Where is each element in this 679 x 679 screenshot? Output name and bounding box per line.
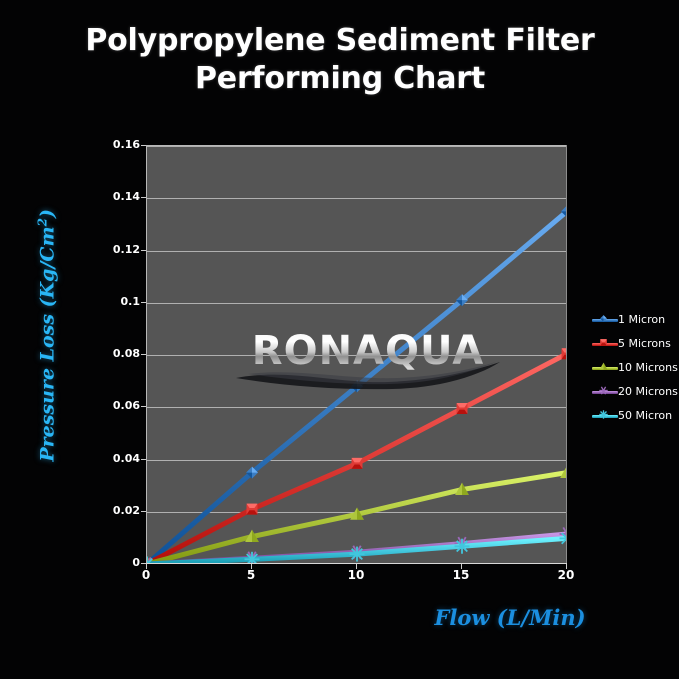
x-axis-tick-label: 20 (541, 568, 591, 582)
legend-marker-icon (592, 386, 618, 398)
y-axis-tick-label: 0.04 (94, 453, 140, 464)
legend-item[interactable]: 5 Microns (592, 332, 678, 356)
y-axis-tick-mark (141, 406, 146, 407)
x-axis-tick-mark (566, 564, 567, 569)
x-axis-tick-mark (461, 564, 462, 569)
legend-item-label: 10 Microns (618, 362, 678, 374)
y-axis-title-superscript: 2 (35, 218, 49, 226)
chart-container: Polypropylene Sediment Filter Performing… (0, 0, 679, 679)
y-axis-title: Pressure Loss (Kg/Cm2) (35, 242, 58, 462)
legend-item-label: 50 Micron (618, 410, 672, 422)
legend-item-label: 5 Microns (618, 338, 671, 350)
legend-marker-icon (592, 362, 618, 374)
legend-item-label: 20 Microns (618, 386, 678, 398)
y-axis-tick-label: 0.06 (94, 400, 140, 411)
y-axis-title-main: Pressure Loss (Kg/Cm (37, 226, 59, 461)
y-axis-tick-mark (141, 197, 146, 198)
y-axis-tick-label: 0.02 (94, 505, 140, 516)
plot-area (146, 145, 566, 563)
x-axis-tick-mark (146, 564, 147, 569)
x-axis-tick-label: 0 (121, 568, 171, 582)
y-axis-tick-label: 0.14 (94, 191, 140, 202)
y-axis-tick-label: 0.08 (94, 348, 140, 359)
x-axis-tick-mark (356, 564, 357, 569)
legend-item-label: 1 Micron (618, 314, 665, 326)
y-axis-tick-mark (141, 354, 146, 355)
series-canvas (147, 146, 567, 564)
legend-item[interactable]: 10 Microns (592, 356, 678, 380)
x-axis-tick-labels: 05101520 (0, 568, 679, 588)
y-axis-tick-mark (141, 302, 146, 303)
y-axis-tick-label: 0.12 (94, 244, 140, 255)
legend-item[interactable]: 1 Micron (592, 308, 678, 332)
y-axis-tick-mark (141, 459, 146, 460)
y-axis-tick-label: 0.1 (94, 296, 140, 307)
x-axis-tick-label: 5 (226, 568, 276, 582)
y-axis-tick-label: 0.16 (94, 139, 140, 150)
legend-marker-icon (592, 314, 618, 326)
x-axis-title: Flow (L/Min) (380, 605, 640, 630)
legend-item[interactable]: 50 Micron (592, 404, 678, 428)
y-axis-tick-label: 0 (94, 557, 140, 568)
y-axis-tick-mark (141, 145, 146, 146)
chart-legend: 1 Micron5 Microns10 Microns20 Microns50 … (592, 308, 678, 428)
legend-marker-icon (592, 410, 618, 422)
y-axis-tick-mark (141, 250, 146, 251)
y-axis-tick-mark (141, 511, 146, 512)
x-axis-tick-label: 15 (436, 568, 486, 582)
legend-marker-icon (592, 338, 618, 350)
y-axis-title-tail: ) (37, 209, 59, 218)
legend-item[interactable]: 20 Microns (592, 380, 678, 404)
x-axis-tick-mark (251, 564, 252, 569)
x-axis-tick-label: 10 (331, 568, 381, 582)
plot-right-edge (566, 145, 567, 564)
